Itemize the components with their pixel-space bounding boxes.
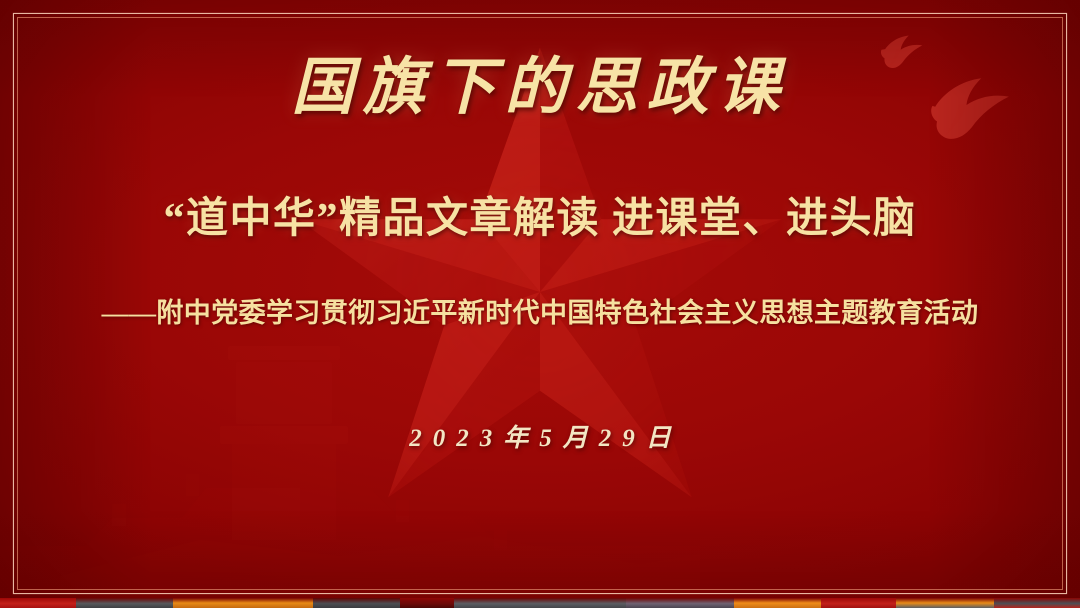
sliver-segment <box>626 598 734 608</box>
sliver-segment <box>76 598 173 608</box>
next-slide-sliver <box>0 598 1080 608</box>
sliver-segment <box>994 598 1080 608</box>
slide-content: 国旗下的思政课 “道中华”精品文章解读 进课堂、进头脑 ——附中党委学习贯彻习近… <box>0 0 1080 608</box>
slide-canvas: 国旗下的思政课 “道中华”精品文章解读 进课堂、进头脑 ——附中党委学习贯彻习近… <box>0 0 1080 608</box>
sliver-segment <box>0 598 76 608</box>
sliver-segment <box>173 598 313 608</box>
slide-sub-subtitle: ——附中党委学习贯彻习近平新时代中国特色社会主义思想主题教育活动 <box>0 297 1080 329</box>
sliver-segment <box>313 598 399 608</box>
event-date: 2023年5月29日 <box>0 424 1080 454</box>
slide-subtitle: “道中华”精品文章解读 进课堂、进头脑 <box>0 196 1080 243</box>
sliver-segment <box>400 598 454 608</box>
sliver-segment <box>734 598 820 608</box>
sliver-segment <box>896 598 993 608</box>
page-title: 国旗下的思政课 <box>0 56 1080 122</box>
sliver-segment <box>454 598 627 608</box>
sliver-segment <box>821 598 897 608</box>
